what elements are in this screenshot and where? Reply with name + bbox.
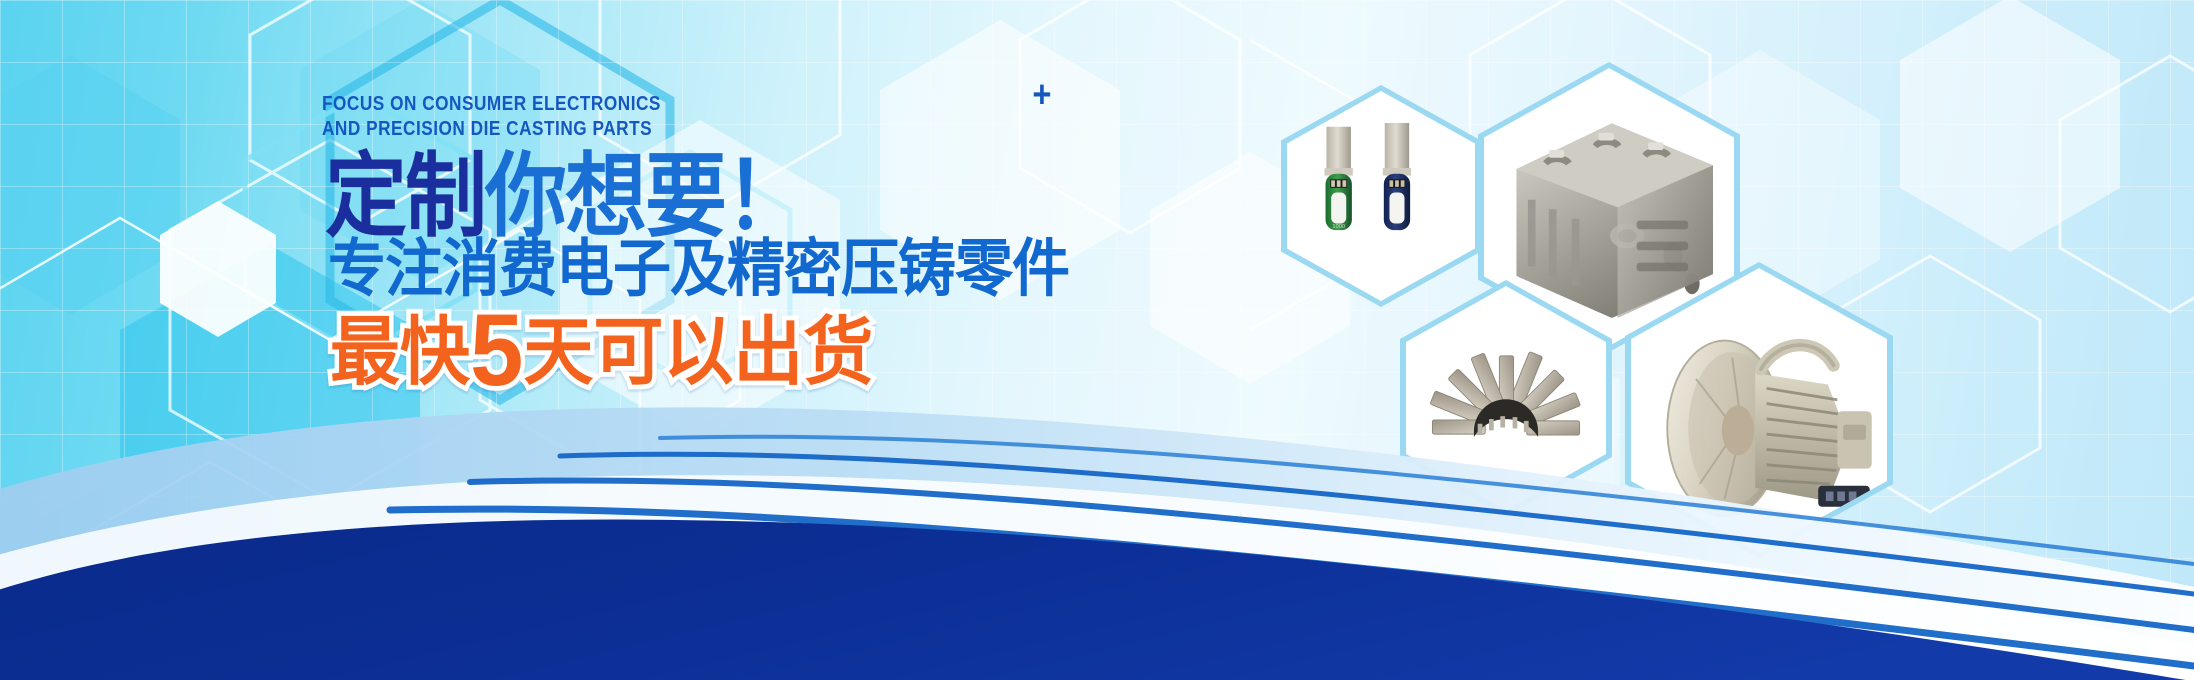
eyebrow-line-1: FOCUS ON CONSUMER ELECTRONICS + (322, 92, 1027, 117)
promo-number: 5 (470, 294, 523, 407)
plus-icon: + (1032, 76, 1052, 114)
promo-prefix: 最快 (330, 311, 470, 394)
sub-headline: 专注消费电子及精密压铸零件 (328, 238, 1069, 301)
svg-text:1000: 1000 (1332, 224, 1345, 230)
main-headline: 定制你想要！ (325, 152, 805, 244)
eyebrow-text-1: FOCUS ON CONSUMER ELECTRONICS (322, 93, 661, 115)
promo-suffix: 天可以出货 (523, 311, 873, 394)
promo-headline: 最快5天可以出货 (330, 300, 873, 402)
headline-text-block: FOCUS ON CONSUMER ELECTRONICS + AND PREC… (322, 92, 1142, 142)
eyebrow-line-2: AND PRECISION DIE CASTING PARTS (322, 117, 1027, 142)
promotional-banner: 1000 (0, 0, 2194, 680)
